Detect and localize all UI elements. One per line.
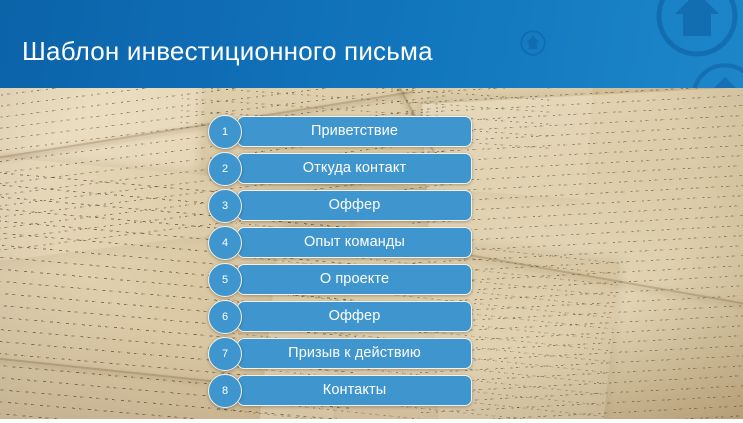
step-number: 1 [222, 127, 228, 138]
step-label: Приветствие [311, 124, 398, 139]
step-number: 3 [222, 201, 228, 212]
step-bar[interactable]: Оффер [237, 301, 472, 332]
step-number: 6 [222, 312, 228, 323]
step-number-badge: 4 [208, 226, 242, 260]
step-label: Призыв к действию [288, 346, 421, 361]
step-number-badge: 7 [208, 337, 242, 371]
step-number-badge: 8 [208, 374, 242, 408]
step-bar[interactable]: Оффер [237, 190, 472, 221]
step-label: Опыт команды [304, 235, 405, 250]
step-number: 2 [222, 164, 228, 175]
step-label: О проекте [320, 272, 389, 287]
step-bar[interactable]: Контакты [237, 375, 472, 406]
step-number-badge: 2 [208, 152, 242, 186]
slide-canvas: Шаблон инвестиционного письма Приветстви… [0, 0, 743, 423]
step-number-badge: 6 [208, 300, 242, 334]
step-label: Оффер [329, 309, 381, 324]
step-bar[interactable]: О проекте [237, 264, 472, 295]
step-label: Оффер [329, 198, 381, 213]
step-bar[interactable]: Откуда контакт [237, 153, 472, 184]
step-number: 4 [222, 238, 228, 249]
step-bar[interactable]: Опыт команды [237, 227, 472, 258]
step-label: Откуда контакт [303, 161, 406, 176]
step-bar[interactable]: Приветствие [237, 116, 472, 147]
step-number: 8 [222, 386, 228, 397]
step-number-badge: 3 [208, 189, 242, 223]
step-list: Приветствие 1 Откуда контакт 2 Оффер 3 [0, 0, 743, 423]
slide-bottom-edge [0, 419, 743, 423]
step-label: Контакты [323, 383, 386, 398]
step-number-badge: 5 [208, 263, 242, 297]
step-bar[interactable]: Призыв к действию [237, 338, 472, 369]
step-number: 5 [222, 275, 228, 286]
step-number-badge: 1 [208, 115, 242, 149]
step-number: 7 [222, 349, 228, 360]
